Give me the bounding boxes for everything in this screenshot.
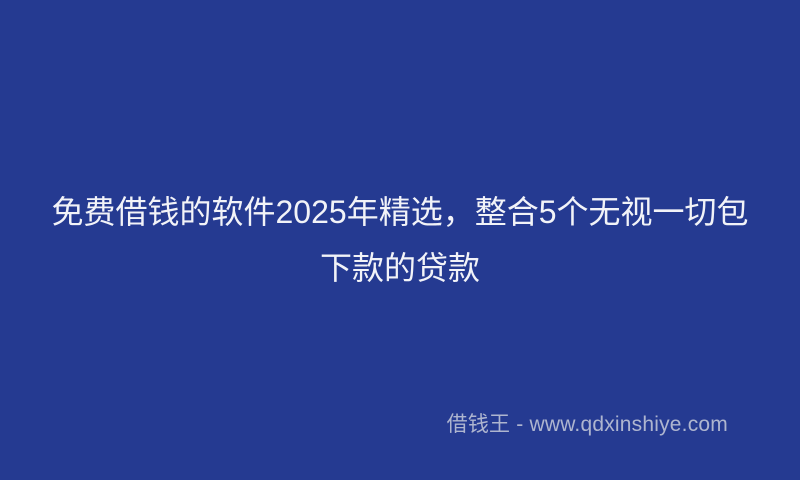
site-watermark: 借钱王 - www.qdxinshiye.com xyxy=(447,412,728,438)
headline-container: 免费借钱的软件2025年精选，整合5个无视一切包下款的贷款 xyxy=(0,0,800,480)
page-title: 免费借钱的软件2025年精选，整合5个无视一切包下款的贷款 xyxy=(50,184,750,296)
article-title-card: 免费借钱的软件2025年精选，整合5个无视一切包下款的贷款 借钱王 - www.… xyxy=(0,0,800,480)
